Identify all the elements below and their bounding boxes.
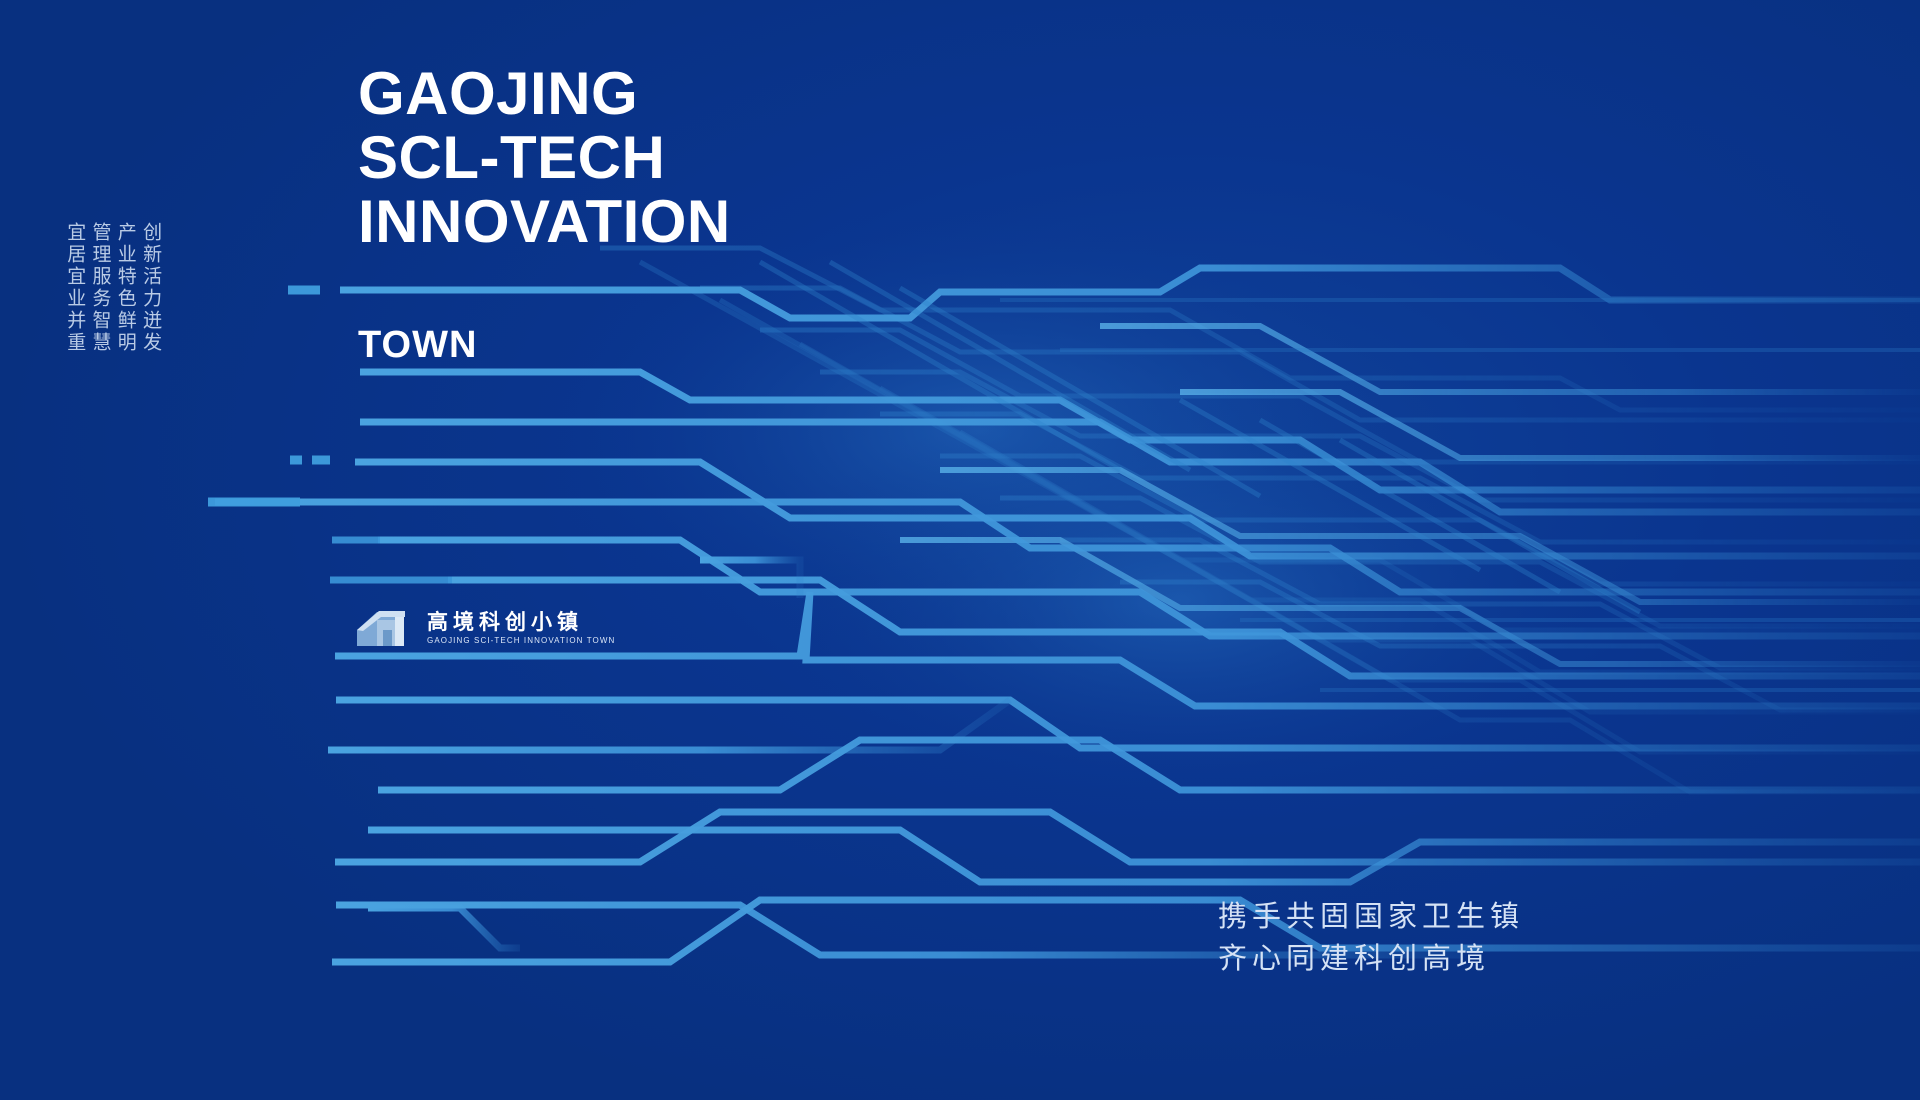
headline-line-4: TOWN	[358, 324, 477, 367]
bottom-slogan-line-2: 齐心同建科创高境	[1218, 937, 1524, 979]
headline: GAOJING SCL-TECH INNOVATION	[358, 62, 731, 254]
vertical-slogan-col-2: 产业特色鲜明	[115, 222, 136, 354]
vertical-slogan: 创新活力迸发 产业特色鲜明 管理服务智慧 宜居宜业并重	[64, 222, 161, 354]
bottom-slogan-line-1: 携手共固国家卫生镇	[1218, 895, 1524, 937]
headline-line-3: INNOVATION	[358, 190, 731, 254]
headline-line-1: GAOJING	[358, 62, 731, 126]
logo-english-name: GAOJING SCI-TECH INNOVATION TOWN	[427, 636, 615, 645]
vertical-slogan-col-1: 创新活力迸发	[140, 222, 161, 354]
poster-canvas: 创新活力迸发 产业特色鲜明 管理服务智慧 宜居宜业并重 GAOJING SCL-…	[0, 0, 1920, 1100]
circuit-trace-artwork	[0, 0, 1920, 1100]
house-roof-icon	[355, 606, 417, 650]
vertical-slogan-col-4: 宜居宜业并重	[64, 222, 85, 354]
vertical-slogan-col-3: 管理服务智慧	[89, 222, 110, 354]
logo-chinese-name: 高境科创小镇	[427, 611, 615, 633]
logo-lockup: 高境科创小镇 GAOJING SCI-TECH INNOVATION TOWN	[355, 606, 615, 650]
logo-text: 高境科创小镇 GAOJING SCI-TECH INNOVATION TOWN	[427, 611, 615, 645]
headline-line-2: SCL-TECH	[358, 126, 731, 190]
bottom-slogan: 携手共固国家卫生镇 齐心同建科创高境	[1218, 895, 1524, 979]
